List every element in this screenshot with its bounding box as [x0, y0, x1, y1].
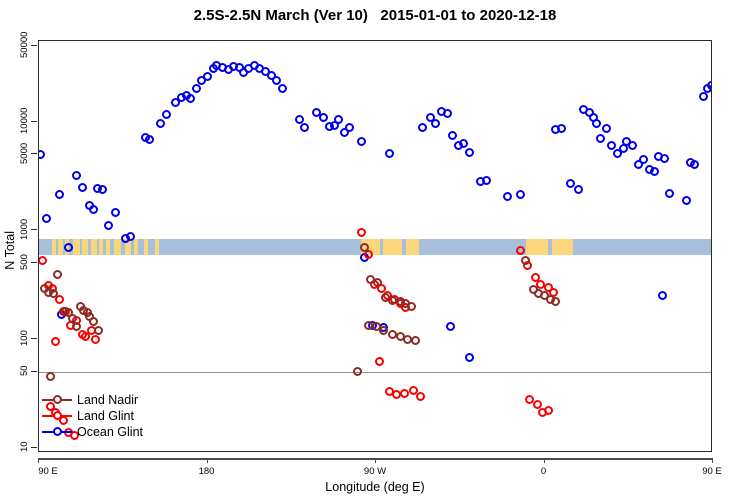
data-point [42, 214, 51, 223]
land-segment [82, 239, 88, 255]
data-point [602, 124, 611, 133]
data-point [353, 367, 362, 376]
y-tick-label: 10 [20, 430, 30, 464]
data-point [203, 72, 212, 81]
data-point [665, 189, 674, 198]
data-point [345, 123, 354, 132]
data-point [379, 326, 388, 335]
land-ocean-strip [39, 239, 711, 255]
data-point [145, 135, 154, 144]
data-point [416, 392, 425, 401]
data-point [482, 176, 491, 185]
data-point [375, 357, 384, 366]
y-tick-mark [31, 121, 37, 122]
land-segment [383, 239, 402, 255]
data-point [682, 196, 691, 205]
circle-marker-icon [53, 411, 62, 420]
x-tick-label: 90 W [364, 466, 386, 477]
y-axis-title: N Total [2, 0, 18, 500]
y-tick-mark [31, 338, 37, 339]
data-point [400, 389, 409, 398]
x-tick-mark [712, 458, 713, 463]
chart-page: 2.5S-2.5N March (Ver 10) 2015-01-01 to 2… [0, 0, 750, 500]
data-point [278, 84, 287, 93]
legend-item-land-glint: Land Glint [42, 408, 143, 423]
legend: Land Nadir Land Glint Ocean Glint [42, 392, 143, 439]
data-point [39, 150, 45, 159]
land-segment [99, 239, 103, 255]
data-point [192, 84, 201, 93]
data-point [596, 134, 605, 143]
data-point [574, 185, 583, 194]
x-tick-label: 90 E [702, 466, 722, 477]
legend-label-land-nadir: Land Nadir [77, 393, 138, 407]
chart-title: 2.5S-2.5N March (Ver 10) 2015-01-01 to 2… [0, 7, 750, 24]
data-point [39, 256, 47, 265]
data-point [156, 119, 165, 128]
y-tick-label: 5000 [20, 136, 30, 170]
data-point [51, 337, 60, 346]
data-point [465, 148, 474, 157]
data-point [186, 94, 195, 103]
y-tick-mark [31, 153, 37, 154]
y-tick-mark [31, 262, 37, 263]
data-point [443, 109, 452, 118]
data-point [503, 192, 512, 201]
data-point [516, 190, 525, 199]
data-point [544, 406, 553, 415]
data-point [690, 160, 699, 169]
data-point [319, 113, 328, 122]
legend-key-land-nadir [42, 393, 72, 407]
data-point [459, 139, 468, 148]
y-tick-mark [31, 229, 37, 230]
y-tick-label: 500 [20, 245, 30, 279]
data-point [55, 190, 64, 199]
y-tick-mark [31, 371, 37, 372]
y-tick-label: 1000 [20, 212, 30, 246]
y-tick-label: 10000 [20, 104, 30, 138]
legend-label-land-glint: Land Glint [77, 409, 134, 423]
data-point [448, 131, 457, 140]
data-point [334, 115, 343, 124]
data-point [551, 297, 560, 306]
land-segment [73, 239, 80, 255]
land-segment [106, 239, 110, 255]
data-point [360, 243, 369, 252]
circle-marker-icon [53, 395, 62, 404]
x-tick-label: 0 [541, 466, 546, 477]
land-segment [52, 239, 56, 255]
data-point [162, 110, 171, 119]
land-segment [114, 239, 121, 255]
land-segment [144, 239, 148, 255]
legend-item-ocean-glint: Ocean Glint [42, 424, 143, 439]
land-segment [58, 239, 64, 255]
data-point [111, 208, 120, 217]
circle-marker-icon [53, 427, 62, 436]
data-point [418, 123, 427, 132]
plot-clip [39, 41, 711, 451]
y-tick-mark [31, 447, 37, 448]
data-point [639, 155, 648, 164]
y-tick-mark [31, 45, 37, 46]
land-segment [406, 239, 419, 255]
y-axis-title-text: N Total [3, 231, 17, 270]
land-segment [134, 239, 138, 255]
x-tick-mark [544, 458, 545, 463]
x-axis-title: Longitude (deg E) [0, 480, 750, 494]
data-point [91, 335, 100, 344]
x-tick-mark [207, 458, 208, 463]
legend-key-land-glint [42, 409, 72, 423]
land-segment [526, 239, 548, 255]
data-point [557, 124, 566, 133]
data-point [94, 326, 103, 335]
data-point [411, 336, 420, 345]
data-point [592, 119, 601, 128]
data-point [628, 141, 637, 150]
land-segment [552, 239, 573, 255]
data-point [89, 205, 98, 214]
legend-item-land-nadir: Land Nadir [42, 392, 143, 407]
data-point [699, 92, 708, 101]
data-point [658, 291, 667, 300]
data-point [300, 123, 309, 132]
data-point [465, 353, 474, 362]
plot-area [38, 40, 712, 452]
y-tick-label: 50000 [20, 28, 30, 62]
data-point [78, 183, 87, 192]
land-segment [155, 239, 159, 255]
data-point [72, 171, 81, 180]
x-tick-mark [375, 458, 376, 463]
data-point [446, 322, 455, 331]
x-tick-label: 90 E [38, 466, 58, 477]
data-point [431, 119, 440, 128]
y-tick-label: 50 [20, 354, 30, 388]
data-point [516, 246, 525, 255]
data-point [660, 154, 669, 163]
data-point [89, 317, 98, 326]
x-tick-mark [38, 458, 39, 463]
data-point [98, 185, 107, 194]
data-point [357, 228, 366, 237]
x-tick-label: 180 [199, 466, 215, 477]
data-point [104, 221, 113, 230]
data-point [385, 149, 394, 158]
legend-label-ocean-glint: Ocean Glint [77, 425, 143, 439]
legend-key-ocean-glint [42, 425, 72, 439]
data-point [707, 81, 711, 90]
gridline [39, 372, 711, 373]
data-point [53, 270, 62, 279]
data-point [357, 137, 366, 146]
data-point [46, 372, 55, 381]
y-tick-label: 100 [20, 321, 30, 355]
data-point [650, 167, 659, 176]
land-segment [91, 239, 97, 255]
data-point [407, 302, 416, 311]
